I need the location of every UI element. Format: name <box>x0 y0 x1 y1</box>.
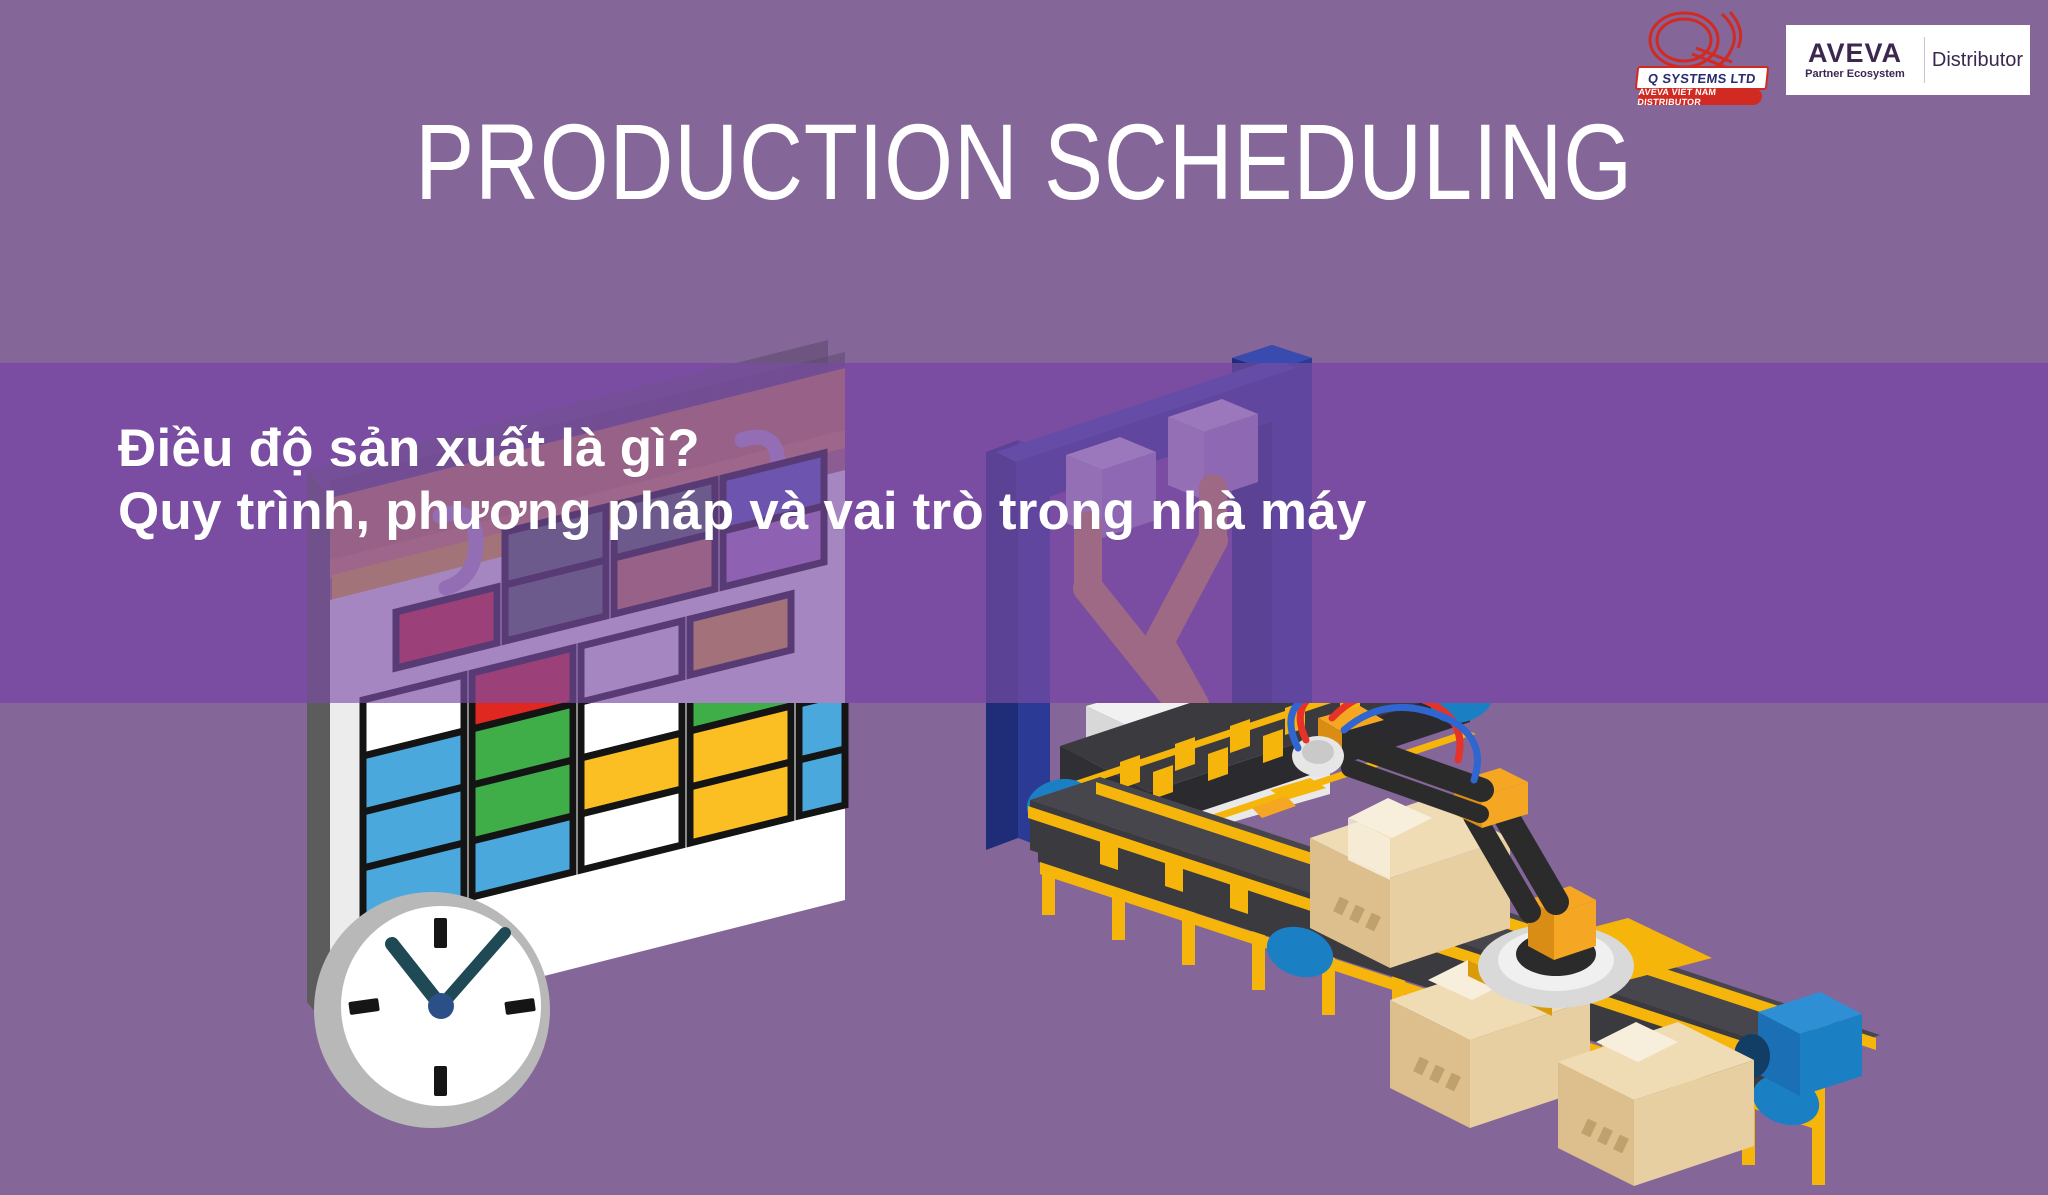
analog-clock <box>314 892 550 1128</box>
qs-systems-logo[interactable]: Q SYSTEMS LTD AVEVA VIET NAM DISTRIBUTOR <box>1636 10 1764 110</box>
headline-line-1: Điều độ sản xuất là gì? <box>118 418 1367 481</box>
slide-canvas: Q SYSTEMS LTD AVEVA VIET NAM DISTRIBUTOR… <box>0 0 2048 1195</box>
qs-tagline: AVEVA VIET NAM DISTRIBUTOR <box>1637 89 1763 105</box>
qs-monogram-icon <box>1636 10 1764 72</box>
headline-text: Điều độ sản xuất là gì? Quy trình, phươn… <box>118 418 1367 543</box>
aveva-program-label: Partner Ecosystem <box>1805 69 1905 80</box>
header-logos: Q SYSTEMS LTD AVEVA VIET NAM DISTRIBUTOR… <box>1636 10 2030 110</box>
aveva-distributor-badge[interactable]: AVEVA Partner Ecosystem Distributor <box>1786 25 2030 95</box>
aveva-level-label: Distributor <box>1925 49 2030 72</box>
page-title: PRODUCTION SCHEDULING <box>184 108 1863 216</box>
headline-line-2: Quy trình, phương pháp và vai trò trong … <box>118 481 1367 544</box>
aveva-brand-block: AVEVA Partner Ecosystem <box>1786 25 1924 95</box>
aveva-wordmark: AVEVA <box>1808 40 1902 67</box>
